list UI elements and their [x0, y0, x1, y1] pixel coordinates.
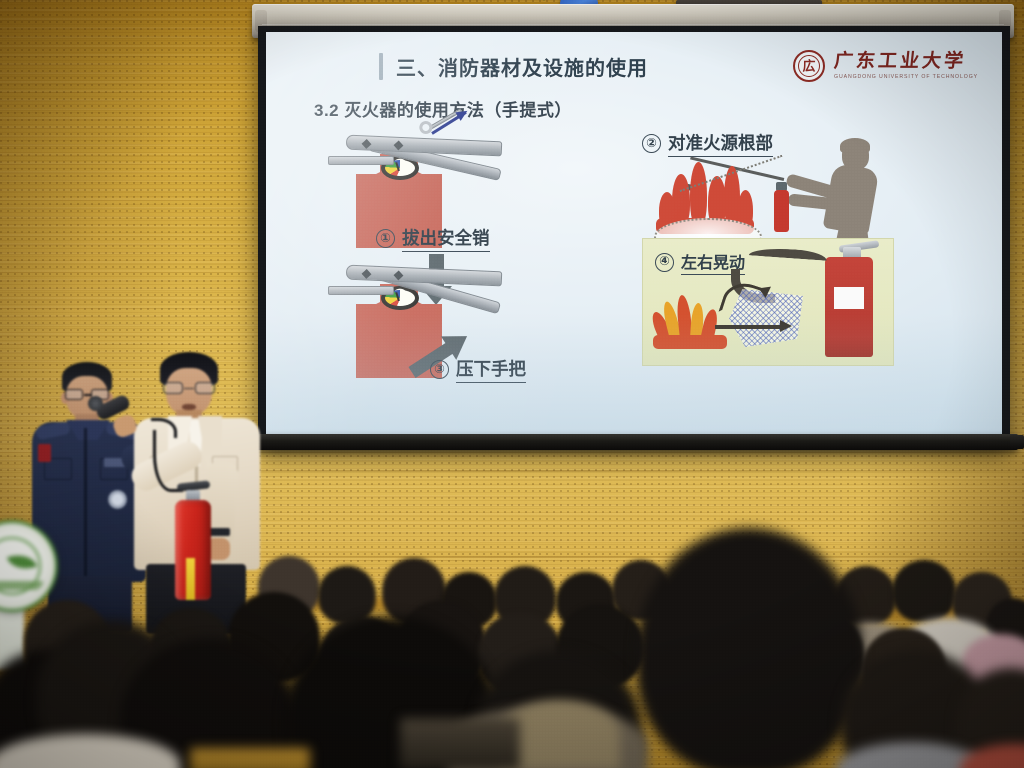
- panel4-hose: [749, 246, 827, 260]
- step-1-label: ① 拔出安全销: [376, 225, 490, 252]
- university-logo-text: 广东工业大学 GUANGDONG UNIVERSITY OF TECHNOLOG…: [834, 52, 978, 80]
- extinguisher-cylinder: [175, 500, 211, 600]
- panel4-extinguisher-label: [834, 287, 864, 309]
- presentation-scene-photo: 三、消防器材及设施的使用 広 广东工业大学 GUANGDONG UNIVERSI…: [0, 0, 1024, 768]
- title-accent-bar: [379, 53, 383, 80]
- step-3-text: 压下手把: [456, 356, 526, 383]
- eyeglasses-icon: [163, 382, 215, 394]
- banner-arc: [0, 581, 43, 590]
- step-3-label: ③ 压下手把: [430, 356, 526, 383]
- slide-title: 三、消防器材及设施的使用: [396, 52, 648, 81]
- bench-foreground: [190, 748, 310, 768]
- held-fire-extinguisher: [175, 478, 211, 600]
- university-seal-icon: 広: [793, 50, 825, 82]
- lever-rivet-icon: [362, 269, 372, 279]
- university-name-cn: 广东工业大学: [833, 52, 967, 72]
- step-3-number: ③: [430, 360, 449, 379]
- step-1-text: 拔出安全销: [402, 225, 490, 252]
- step-2-number: ②: [642, 134, 661, 153]
- banner-leaf-icon: [7, 549, 37, 574]
- audience-head: [892, 560, 956, 622]
- university-logo: 広 广东工业大学 GUANGDONG UNIVERSITY OF TECHNOL…: [793, 50, 978, 82]
- seal-glyph: 広: [803, 60, 816, 73]
- officer-badge-icon: [108, 490, 127, 509]
- slide-header: 三、消防器材及设施的使用: [379, 52, 648, 81]
- extinguisher-lever-cross: [328, 156, 394, 165]
- flame-base: [653, 335, 727, 349]
- screen-weight-bar: [250, 434, 1018, 450]
- panel4-extinguisher-body: [825, 257, 873, 357]
- officer-button-placket: [84, 428, 87, 576]
- sweep-straight-arrow-icon: [715, 325, 781, 329]
- audience-head: [318, 566, 376, 624]
- lever-rivet-icon: [394, 140, 404, 150]
- step-2-label: ② 对准火源根部: [642, 130, 773, 157]
- university-name-en: GUANGDONG UNIVERSITY OF TECHNOLOGY: [834, 74, 978, 80]
- lever-rivet-icon: [394, 270, 404, 280]
- audience-head-foreground: [636, 528, 862, 768]
- officer-shoulder-patch: [38, 444, 51, 462]
- step4-panel: ④ 左右晃动: [642, 238, 894, 366]
- step-2-text: 对准火源根部: [668, 130, 773, 157]
- step-1-number: ①: [376, 229, 395, 248]
- presentation-slide: 三、消防器材及设施的使用 広 广东工业大学 GUANGDONG UNIVERSI…: [266, 32, 1002, 434]
- extinguisher-lever-cross: [328, 286, 394, 295]
- extinguisher-yellow-label: [186, 558, 195, 600]
- step-4-number: ④: [655, 253, 674, 272]
- eyeglasses-icon: [64, 389, 110, 400]
- lever-rivet-icon: [362, 139, 372, 149]
- seat-back-foreground: [400, 718, 520, 768]
